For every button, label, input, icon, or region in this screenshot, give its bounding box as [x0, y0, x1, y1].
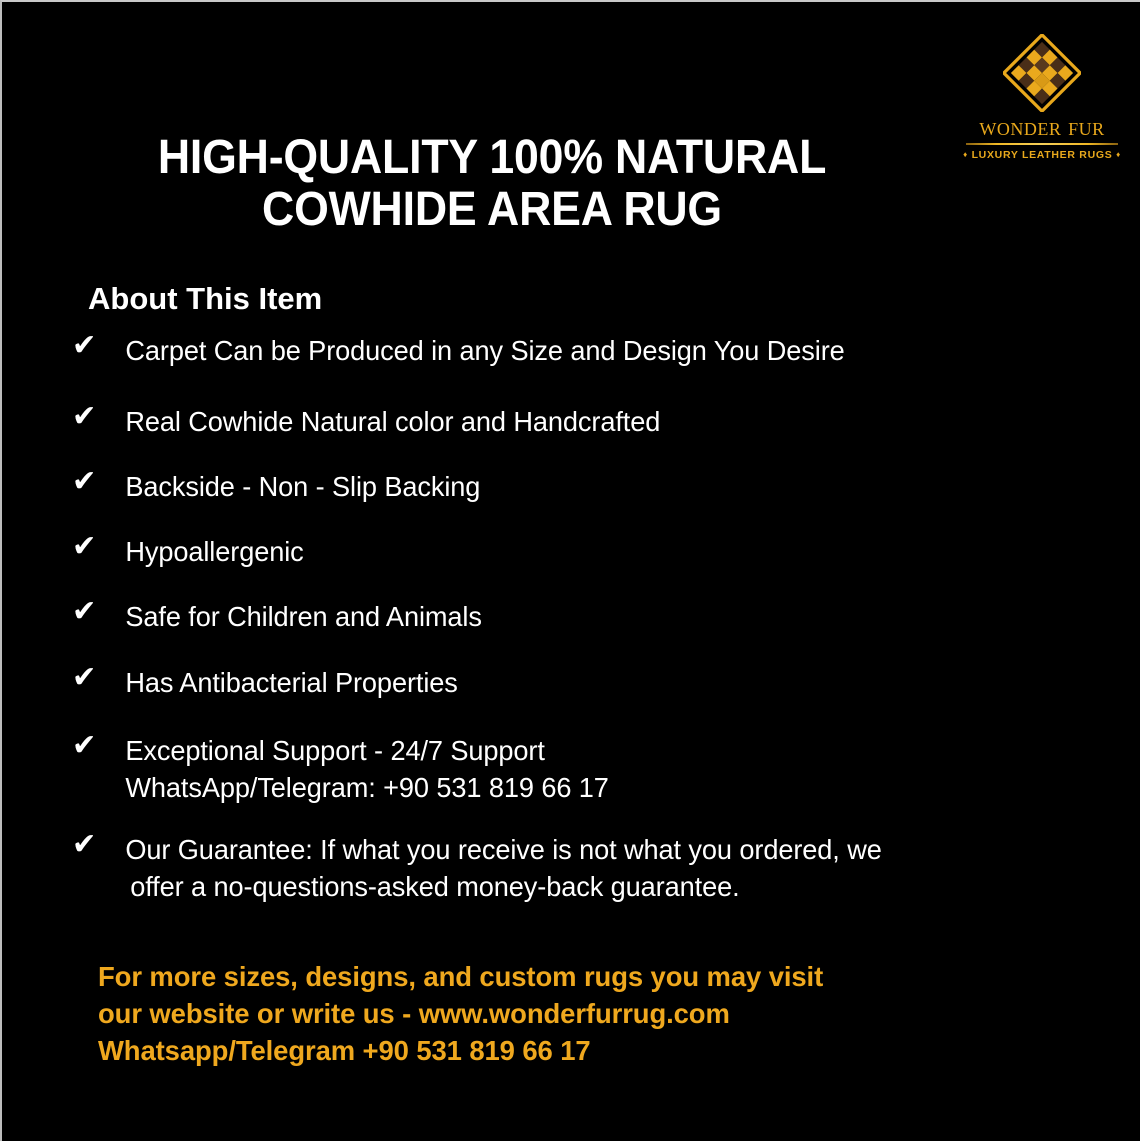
list-item-label: Real Cowhide Natural color and Handcraft…	[125, 403, 1051, 440]
list-item: ✔ Safe for Children and Animals	[72, 598, 1052, 635]
brand-tagline-text: LUXURY LEATHER RUGS	[972, 149, 1113, 161]
list-item-label: Our Guarantee: If what you receive is no…	[125, 831, 1051, 905]
diamond-checkerboard-logo-icon	[1003, 34, 1081, 112]
footer-cta: For more sizes, designs, and custom rugs…	[98, 958, 823, 1069]
list-item-label: Hypoallergenic	[125, 533, 1051, 570]
brand-tagline: ♦ LUXURY LEATHER RUGS ♦	[954, 149, 1130, 161]
guarantee-line-2: offer a no-questions-asked money-back gu…	[125, 868, 1051, 905]
product-info-card: Wonder Fur ♦ LUXURY LEATHER RUGS ♦ HIGH-…	[0, 0, 1140, 1141]
check-icon: ✔	[72, 463, 111, 500]
list-item-label: Has Antibacterial Properties	[125, 664, 1051, 701]
list-item-guarantee: ✔ Our Guarantee: If what you receive is …	[72, 831, 1052, 905]
footer-line-3: Whatsapp/Telegram +90 531 819 66 17	[98, 1032, 823, 1069]
diamond-ornament-left-icon: ♦	[963, 150, 968, 159]
check-icon: ✔	[72, 327, 111, 364]
diamond-ornament-right-icon: ♦	[1116, 150, 1121, 159]
page-title: HIGH-QUALITY 100% NATURAL COWHIDE AREA R…	[92, 132, 892, 236]
list-item-label: Safe for Children and Animals	[125, 598, 1051, 635]
check-icon: ✔	[72, 727, 111, 764]
guarantee-line-1: Our Guarantee: If what you receive is no…	[125, 834, 881, 865]
check-icon: ✔	[72, 826, 111, 863]
check-icon: ✔	[72, 659, 111, 696]
brand-logo: Wonder Fur ♦ LUXURY LEATHER RUGS ♦	[954, 34, 1130, 164]
list-item: ✔ Real Cowhide Natural color and Handcra…	[72, 403, 1052, 440]
about-this-item-heading: About This Item	[88, 281, 322, 317]
check-icon: ✔	[72, 528, 111, 565]
brand-name: Wonder Fur	[954, 114, 1130, 142]
list-item-label: Backside - Non - Slip Backing	[125, 468, 1051, 505]
list-item-label: Carpet Can be Produced in any Size and D…	[125, 332, 1051, 369]
support-line-1: Exceptional Support - 24/7 Support	[125, 735, 544, 766]
footer-line-2: our website or write us - www.wonderfurr…	[98, 995, 823, 1032]
list-item-label: Exceptional Support - 24/7 Support Whats…	[125, 732, 1051, 806]
support-contact: WhatsApp/Telegram: +90 531 819 66 17	[125, 769, 1051, 806]
list-item: ✔ Carpet Can be Produced in any Size and…	[72, 332, 1052, 369]
page-title-line-2: COWHIDE AREA RUG	[92, 184, 892, 236]
check-icon: ✔	[72, 593, 111, 630]
brand-divider	[966, 143, 1118, 145]
footer-line-1: For more sizes, designs, and custom rugs…	[98, 958, 823, 995]
list-item-support: ✔ Exceptional Support - 24/7 Support Wha…	[72, 732, 1052, 806]
list-item: ✔ Has Antibacterial Properties	[72, 664, 1052, 701]
feature-list: ✔ Carpet Can be Produced in any Size and…	[72, 332, 1082, 905]
page-title-line-1: HIGH-QUALITY 100% NATURAL	[92, 132, 892, 184]
check-icon: ✔	[72, 398, 111, 435]
list-item: ✔ Backside - Non - Slip Backing	[72, 468, 1052, 505]
list-item: ✔ Hypoallergenic	[72, 533, 1052, 570]
